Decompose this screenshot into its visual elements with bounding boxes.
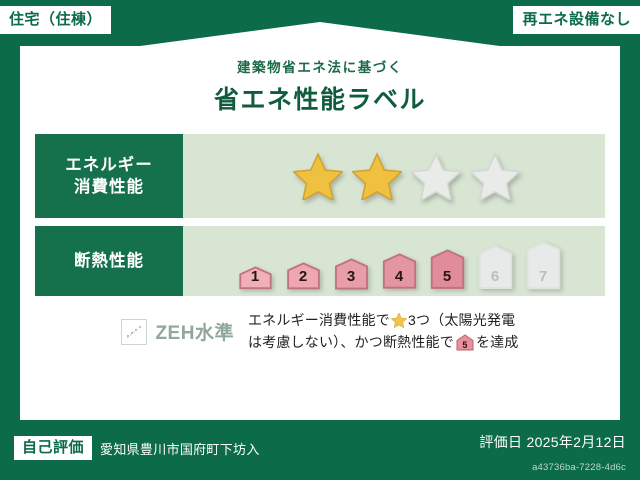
energy-performance-value (183, 134, 605, 218)
page-title: 省エネ性能ラベル (20, 80, 620, 116)
renewable-equipment-tag: 再エネ設備なし (513, 6, 640, 34)
zeh-note-line2-before: は考慮しない）、かつ断熱性能で (248, 334, 454, 350)
insulation-grade-7: 7 (522, 241, 565, 290)
energy-performance-label: 住宅（住棟） 再エネ設備なし 建築物省エネ法に基づく 省エネ性能ラベル エネルギ… (0, 0, 640, 480)
insulation-grade-1: 1 (234, 266, 277, 290)
house-badge-icon (330, 258, 373, 290)
evaluation-date: 評価日 2025年2月12日 (479, 432, 626, 452)
insulation-grade-scale: 1234567 (234, 241, 565, 290)
insulation-grade-6: 6 (474, 245, 517, 290)
zeh-badge: ZEH水準 (121, 318, 234, 345)
house-badge-icon: 5 (456, 334, 474, 351)
house-badge-icon (426, 249, 469, 290)
house-badge-icon (378, 253, 421, 290)
insulation-grade-4: 4 (378, 253, 421, 290)
energy-performance-row: エネルギー 消費性能 (35, 134, 605, 218)
zeh-note: ZEH水準 エネルギー消費性能で 3つ（太陽光発電 は考慮しない）、かつ断熱性能… (20, 310, 620, 353)
footer-right-group: 評価日 2025年2月12日 a43736ba-7228-4d6c (479, 432, 626, 480)
house-badge-icon (474, 245, 517, 290)
insulation-grade-5: 5 (426, 249, 469, 290)
insulation-performance-value: 1234567 (183, 226, 605, 296)
title-block: 建築物省エネ法に基づく 省エネ性能ラベル (20, 56, 620, 116)
house-badge-value: 5 (456, 341, 474, 350)
zeh-chart-icon (121, 319, 147, 345)
star-rating (293, 152, 520, 200)
building-type-tag: 住宅（住棟） (0, 6, 111, 34)
insulation-performance-row: 断熱性能 1234567 (35, 226, 605, 296)
insulation-key-label: 断熱性能 (74, 250, 144, 272)
evaluation-type-tag: 自己評価 (14, 436, 92, 460)
insulation-grade-3: 3 (330, 258, 373, 290)
zeh-note-line2-after: を達成 (476, 334, 519, 350)
property-address: 愛知県豊川市国府町下坊入 (100, 439, 260, 458)
house-badge-icon (234, 266, 277, 290)
zeh-note-line-1: エネルギー消費性能で 3つ（太陽光発電 (248, 310, 519, 332)
energy-performance-key: エネルギー 消費性能 (35, 134, 183, 218)
footer-left-group: 自己評価 愛知県豊川市国府町下坊入 (14, 436, 260, 460)
zeh-note-line-2: は考慮しない）、かつ断熱性能で 5 を達成 (248, 332, 519, 354)
star-icon-empty (411, 152, 461, 200)
star-icon (391, 312, 407, 328)
insulation-grade-2: 2 (282, 262, 325, 290)
star-icon-filled (293, 152, 343, 200)
insulation-performance-key: 断熱性能 (35, 226, 183, 296)
zeh-note-line1-before: エネルギー消費性能で (248, 312, 390, 328)
label-subtitle: 建築物省エネ法に基づく (20, 56, 620, 76)
star-icon-empty (470, 152, 520, 200)
zeh-note-line1-after: 3つ（太陽光発電 (408, 312, 515, 328)
zeh-note-text: エネルギー消費性能で 3つ（太陽光発電 は考慮しない）、かつ断熱性能で 5 を達… (248, 310, 519, 353)
evaluation-date-label: 評価日 (479, 434, 522, 450)
footer-band: 自己評価 愛知県豊川市国府町下坊入 評価日 2025年2月12日 a43736b… (0, 420, 640, 480)
energy-key-line-1: エネルギー (65, 154, 153, 176)
evaluation-id: a43736ba-7228-4d6c (479, 462, 626, 473)
star-icon-filled (352, 152, 402, 200)
zeh-label: ZEH水準 (155, 318, 234, 345)
energy-key-line-2: 消費性能 (74, 176, 144, 198)
house-badge-icon (282, 262, 325, 290)
house-badge-icon (522, 241, 565, 290)
label-card: 建築物省エネ法に基づく 省エネ性能ラベル エネルギー 消費性能 断熱性能 123… (20, 46, 620, 420)
evaluation-date-value: 2025年2月12日 (526, 434, 626, 450)
